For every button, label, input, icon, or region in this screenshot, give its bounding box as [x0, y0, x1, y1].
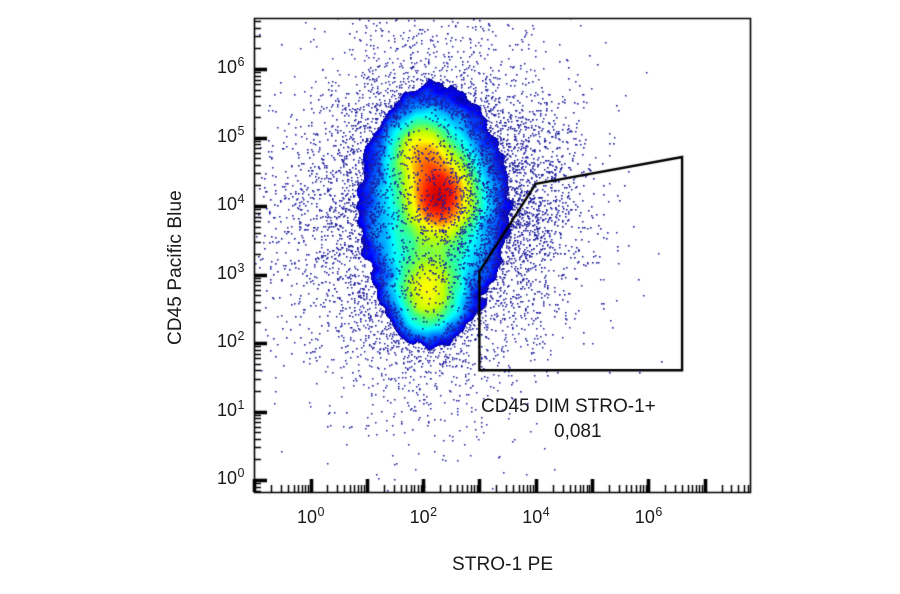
tick-label: 102 [217, 332, 244, 350]
tick-label: 106 [635, 508, 662, 526]
scatter-density-canvas [0, 0, 900, 594]
tick-label: 101 [217, 401, 244, 419]
tick-label: 106 [217, 58, 244, 76]
y-axis-title: CD45 Pacific Blue [165, 190, 187, 345]
tick-label: 104 [217, 195, 244, 213]
flow-cytometry-plot: CD45 Pacific Blue STRO-1 PE CD45 DIM STR… [0, 0, 900, 594]
tick-label: 105 [217, 127, 244, 145]
x-axis-title: STRO-1 PE [452, 554, 553, 576]
tick-label: 100 [217, 469, 244, 487]
gate-label-value: 0,081 [554, 421, 602, 443]
gate-label-name: CD45 DIM STRO-1+ [481, 396, 656, 418]
tick-label: 102 [410, 508, 437, 526]
tick-label: 100 [297, 508, 324, 526]
tick-label: 104 [522, 508, 549, 526]
tick-label: 103 [217, 264, 244, 282]
